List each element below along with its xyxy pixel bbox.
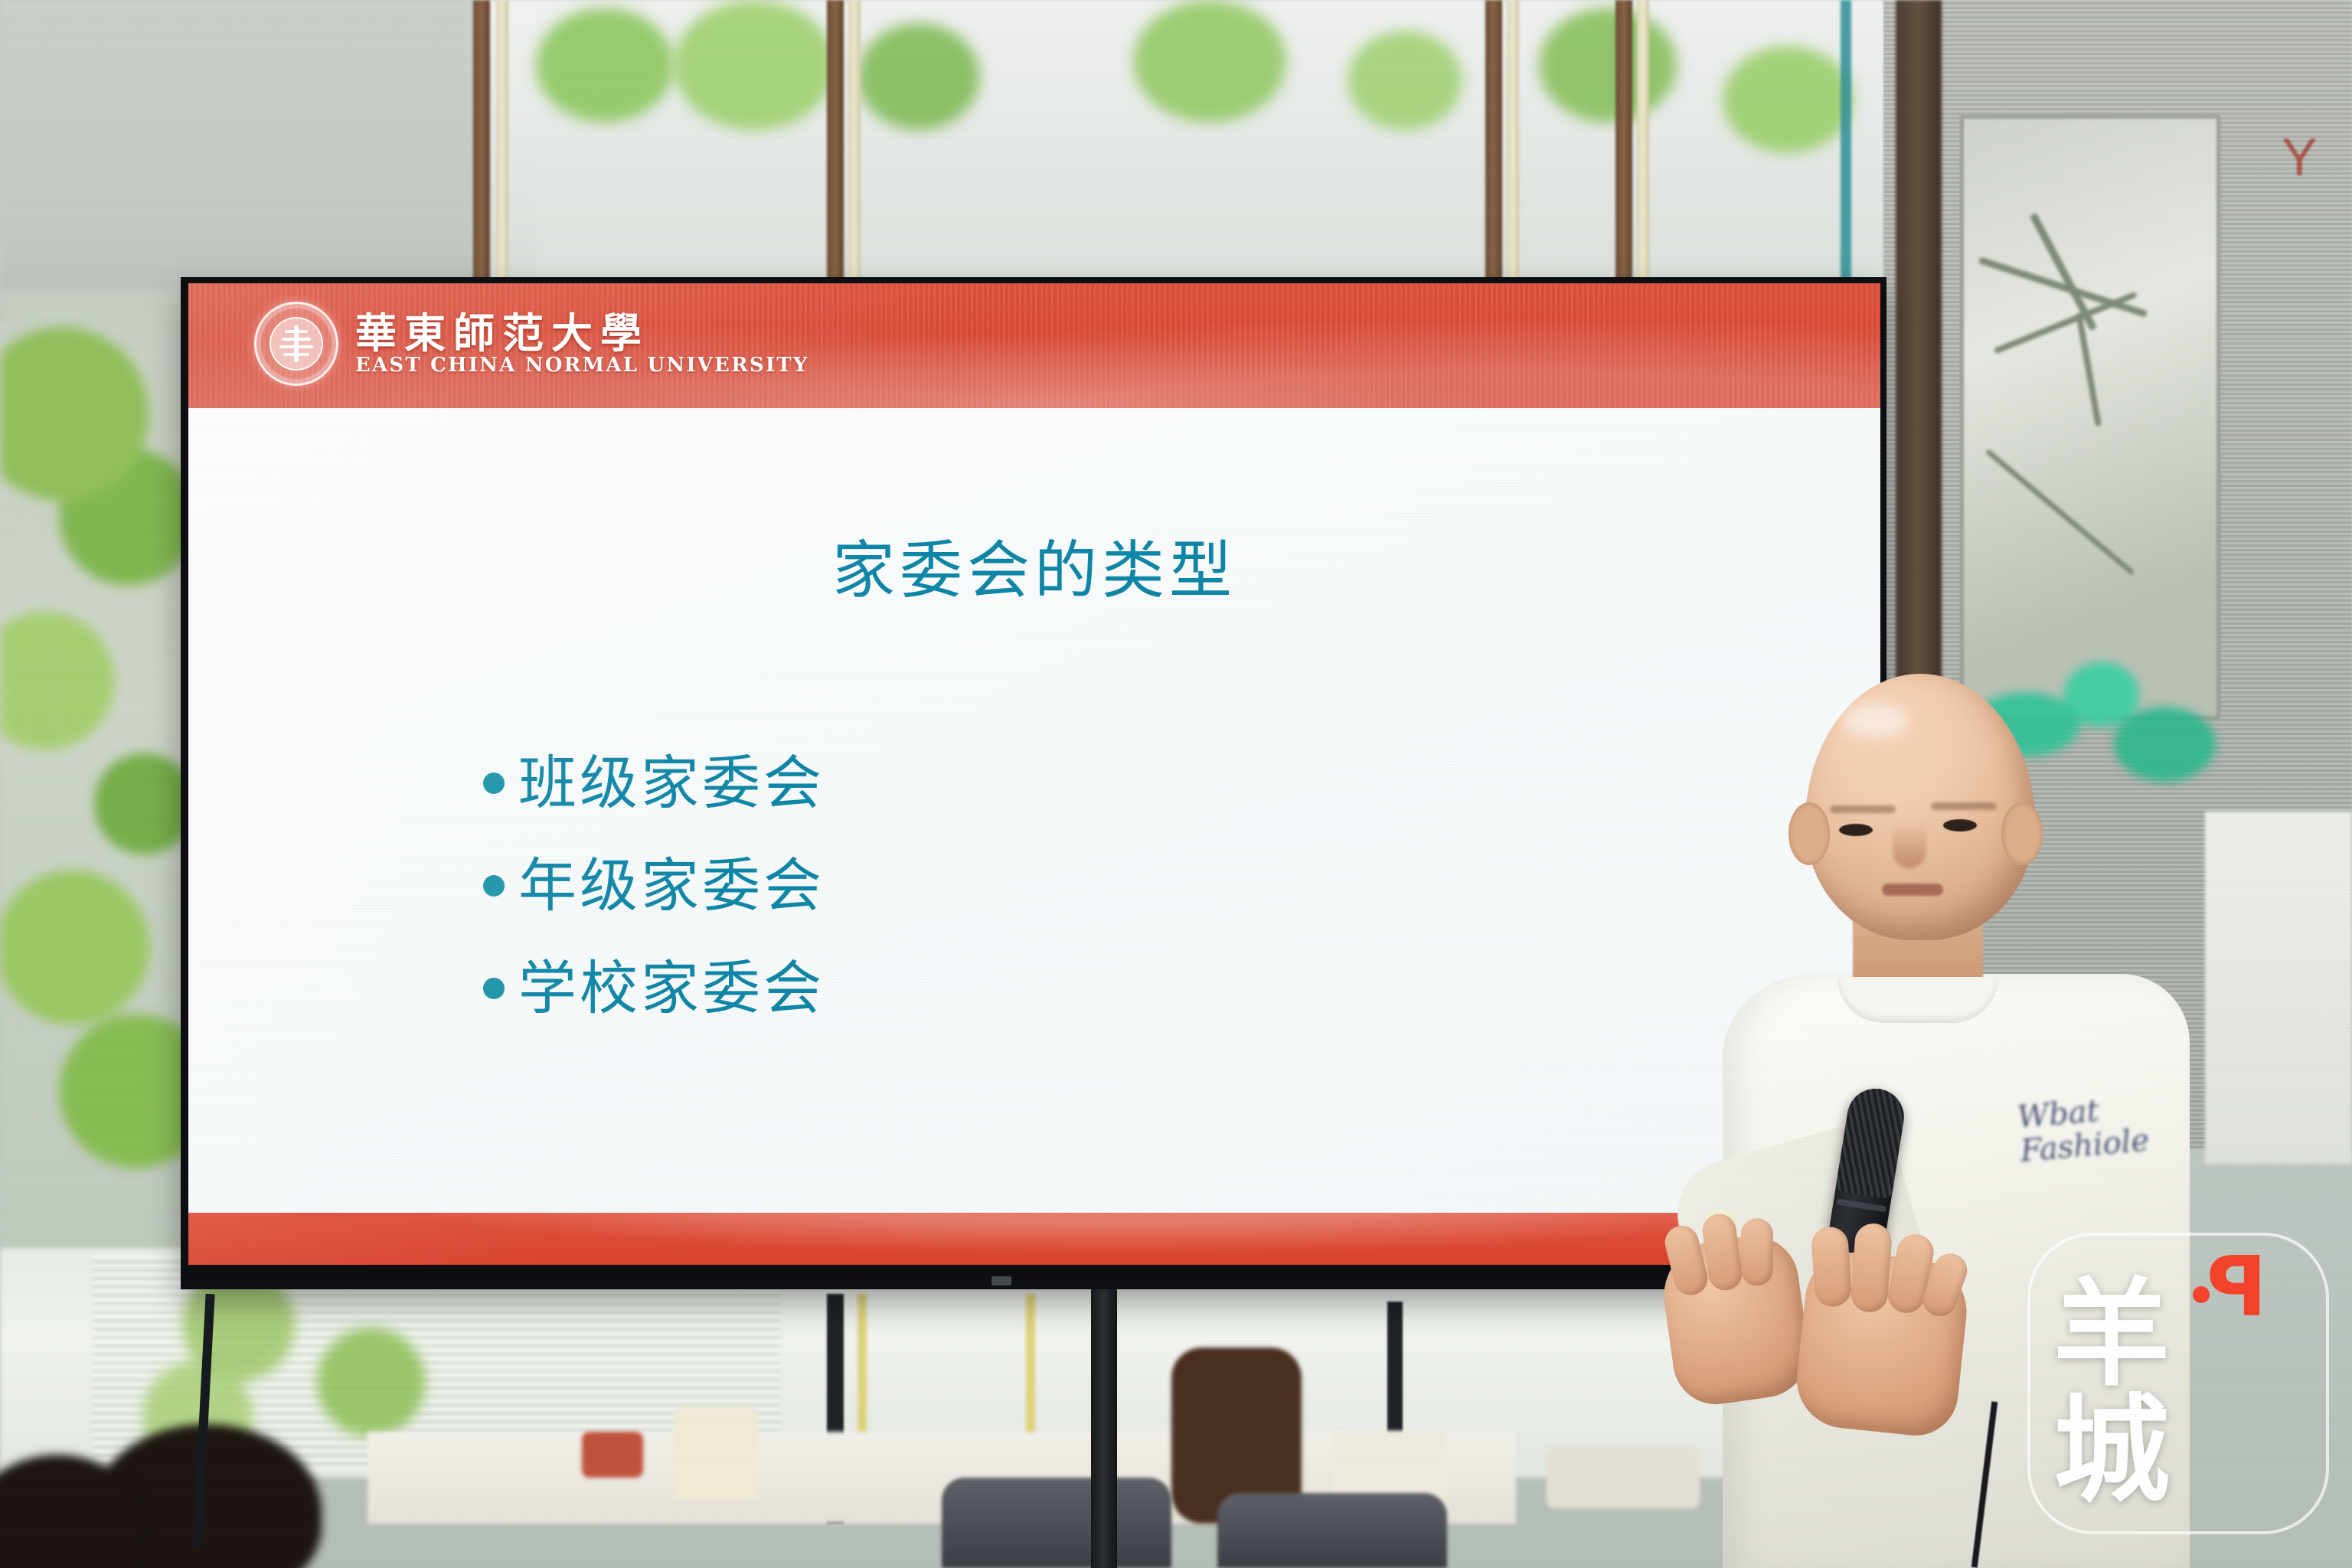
speaker-mouth xyxy=(1882,884,1943,896)
university-name-cn: 華東師范大學 xyxy=(355,312,809,354)
list-item: 班级家委会 xyxy=(483,754,825,812)
white-panel xyxy=(2205,812,2352,1164)
white-box-object xyxy=(1332,1432,1447,1501)
speaker-right-hand xyxy=(1792,1248,1972,1440)
tv-stand-pole xyxy=(1091,1289,1117,1568)
wall-letter-mark: Y xyxy=(2282,130,2327,184)
tv-bottom-bezel xyxy=(181,1272,1886,1289)
head-highlight xyxy=(1841,703,1910,738)
left-wall-panel xyxy=(0,0,536,322)
slide-screen: 華東師范大學 EAST CHINA NORMAL UNIVERSITY 家委会的… xyxy=(188,283,1880,1265)
speaker-ear xyxy=(1788,802,1830,865)
university-name-block: 華東師范大學 EAST CHINA NORMAL UNIVERSITY xyxy=(355,312,809,375)
speaker-ear xyxy=(2001,802,2043,865)
foliage-blob xyxy=(1539,8,1677,122)
speaker-nose xyxy=(1893,824,1926,868)
foliage-blob xyxy=(674,0,835,130)
slide-bullet-list: 班级家委会 年级家委会 学校家委会 xyxy=(483,754,825,1018)
bullet-dot-icon xyxy=(483,978,505,999)
red-object xyxy=(582,1432,643,1478)
speaker-left-hand xyxy=(1657,1230,1815,1410)
bullet-label: 班级家委会 xyxy=(518,754,825,812)
bullet-dot-icon xyxy=(483,773,505,794)
window-mullion xyxy=(1507,0,1519,306)
list-item: 学校家委会 xyxy=(483,959,825,1018)
speaker-eye xyxy=(1943,819,1977,831)
vase-object xyxy=(674,1407,758,1499)
foliage-blob xyxy=(1347,31,1462,130)
window-mullion xyxy=(473,0,490,306)
window-mullion xyxy=(827,0,844,306)
foliage-blob xyxy=(857,23,980,130)
shirt-collar xyxy=(1837,977,1998,1023)
watermark-p-mark: P xyxy=(2207,1246,2267,1329)
university-name-en: EAST CHINA NORMAL UNIVERSITY xyxy=(355,355,809,375)
window-mullion xyxy=(496,0,508,306)
window-mullion xyxy=(1485,0,1502,306)
bullet-label: 年级家委会 xyxy=(518,857,825,915)
bullet-dot-icon xyxy=(483,875,505,897)
window-mullion xyxy=(1615,0,1632,306)
slide-content-area: 家委会的类型 班级家委会 年级家委会 学校家委会 xyxy=(188,408,1880,1213)
mic-ring xyxy=(1836,1198,1886,1212)
photo-scene: Y xyxy=(0,0,2352,1568)
university-brand: 華東師范大學 EAST CHINA NORMAL UNIVERSITY xyxy=(254,302,809,386)
chair xyxy=(1217,1493,1447,1568)
seal-inner-ring xyxy=(269,317,323,371)
foliage-blob xyxy=(536,8,674,122)
bullet-label: 学校家委会 xyxy=(518,959,825,1018)
university-seal-icon xyxy=(254,302,338,386)
speaker-eye xyxy=(1839,824,1873,836)
left-foliage-column xyxy=(0,291,207,1317)
television-display: 華東師范大學 EAST CHINA NORMAL UNIVERSITY 家委会的… xyxy=(181,277,1886,1285)
list-item: 年级家委会 xyxy=(483,857,825,915)
watermark-logo: 羊城 P xyxy=(2027,1233,2329,1534)
window-mullion xyxy=(848,0,861,306)
foliage-blob xyxy=(1133,0,1286,122)
chair xyxy=(942,1478,1171,1568)
shirt-script-text: Wbat Fashiole xyxy=(2016,1086,2200,1193)
slide-title: 家委会的类型 xyxy=(188,540,1880,603)
slide-footer-band xyxy=(188,1213,1880,1265)
slide-header-band: 華東師范大學 EAST CHINA NORMAL UNIVERSITY xyxy=(188,283,1880,408)
foliage-blob xyxy=(1723,46,1853,153)
table-object xyxy=(1547,1447,1700,1508)
window-mullion xyxy=(1637,0,1649,306)
tv-brand-nub xyxy=(991,1276,1011,1285)
